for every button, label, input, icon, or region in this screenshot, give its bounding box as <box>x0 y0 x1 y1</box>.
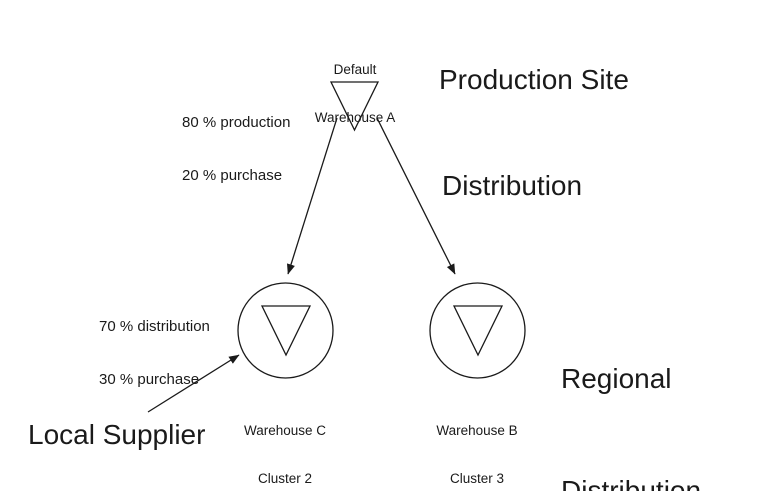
annotation-production-purchase-line1: 80 % production <box>182 114 332 132</box>
node-label-warehouse-b: Warehouse B Cluster 3 <box>412 391 542 491</box>
node-label-warehouse-c-line2: Cluster 2 <box>220 471 350 487</box>
annotation-production-purchase-line2: 20 % purchase <box>182 167 332 185</box>
node-label-warehouse-c-line1: Warehouse C <box>220 423 350 439</box>
node-warehouse-c-circle <box>238 283 333 378</box>
heading-regional-distribution-centers-line1: Regional <box>561 360 701 397</box>
heading-local-supplier: Local Supplier <box>28 416 205 453</box>
heading-distribution: Distribution <box>442 167 582 204</box>
node-label-warehouse-a-line1: Default <box>290 62 420 78</box>
node-label-warehouse-b-line1: Warehouse B <box>412 423 542 439</box>
heading-regional-distribution-centers: Regional Distribution Centers <box>561 286 701 491</box>
annotation-production-purchase: 80 % production 20 % purchase <box>182 79 332 221</box>
heading-regional-distribution-centers-line2: Distribution <box>561 472 701 491</box>
node-label-warehouse-b-line2: Cluster 3 <box>412 471 542 487</box>
node-warehouse-b-triangle-icon <box>454 306 502 355</box>
diagram-canvas: Default Warehouse A 80 % production 20 %… <box>0 0 762 491</box>
node-warehouse-b-circle <box>430 283 525 378</box>
node-warehouse-c-triangle-icon <box>262 306 310 355</box>
heading-production-site: Production Site <box>439 61 629 98</box>
annotation-distribution-purchase-line2: 30 % purchase <box>99 371 249 389</box>
node-label-warehouse-c: Warehouse C Cluster 2 <box>220 391 350 491</box>
annotation-distribution-purchase-line1: 70 % distribution <box>99 318 249 336</box>
